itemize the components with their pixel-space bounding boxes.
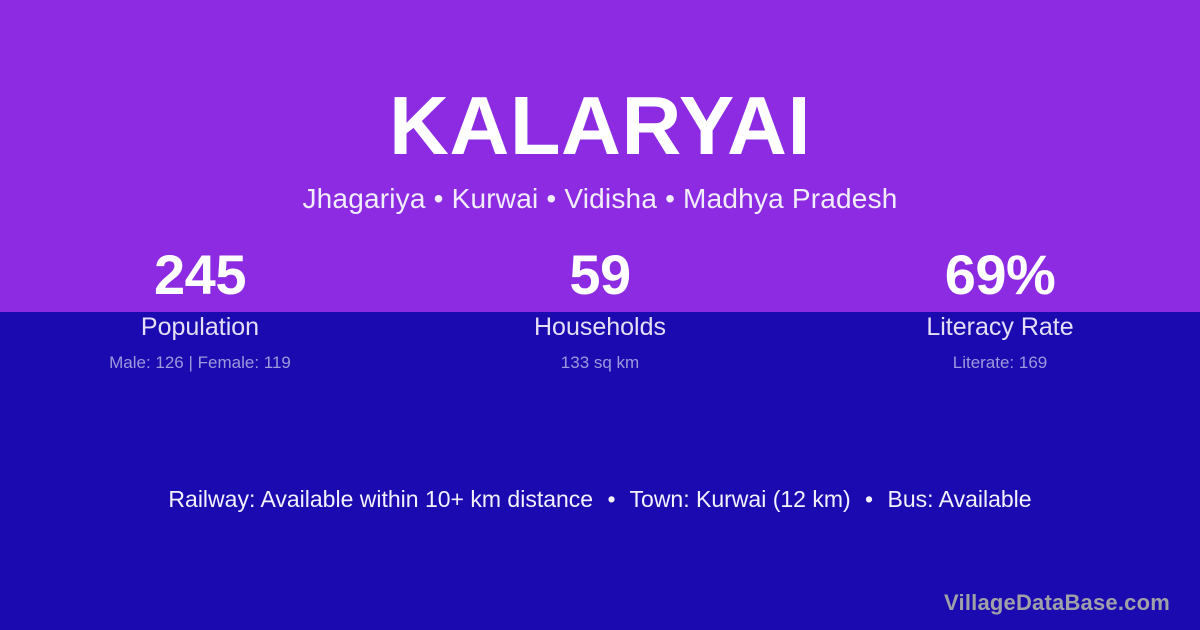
stat-label-households: Households: [400, 311, 800, 343]
stat-sub-literacy-rate: Literate: 169: [800, 351, 1200, 375]
stat-sub-households: 133 sq km: [400, 351, 800, 375]
stat-label-literacy-rate: Literacy Rate: [800, 311, 1200, 343]
breadcrumb: Jhagariya • Kurwai • Vidisha • Madhya Pr…: [0, 181, 1200, 216]
amenities-info-row: Railway: Available within 10+ km distanc…: [0, 482, 1200, 516]
stat-value-households: 59: [400, 243, 800, 307]
stat-literacy-rate: 69% Literacy Rate Literate: 169: [800, 243, 1200, 375]
info-separator-1: •: [599, 486, 623, 512]
stat-households: 59 Households 133 sq km: [400, 243, 800, 375]
stat-value-literacy-rate: 69%: [800, 243, 1200, 307]
site-watermark: VillageDataBase.com: [944, 589, 1170, 617]
stats-row: 245 Population Male: 126 | Female: 119 5…: [0, 243, 1200, 375]
stat-sub-population: Male: 126 | Female: 119: [0, 351, 400, 375]
stat-value-population: 245: [0, 243, 400, 307]
page-title: KALARYAI: [0, 84, 1200, 167]
info-town: Town: Kurwai (12 km): [630, 486, 851, 512]
village-info-card: KALARYAI Jhagariya • Kurwai • Vidisha • …: [0, 0, 1200, 630]
info-separator-2: •: [857, 486, 881, 512]
stat-label-population: Population: [0, 311, 400, 343]
info-bus: Bus: Available: [888, 486, 1032, 512]
info-railway: Railway: Available within 10+ km distanc…: [168, 486, 593, 512]
stat-population: 245 Population Male: 126 | Female: 119: [0, 243, 400, 375]
